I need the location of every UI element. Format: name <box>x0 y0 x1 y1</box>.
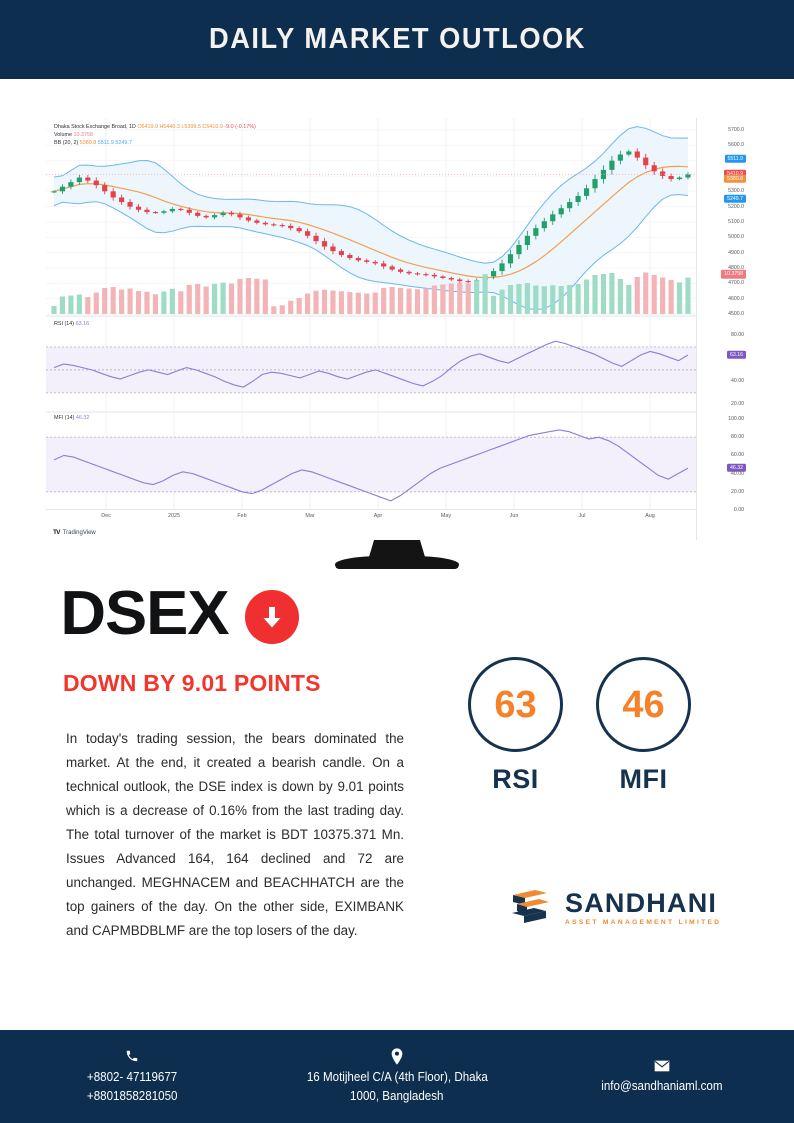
mfi-scale-tick: 100.00 <box>728 416 744 422</box>
market-summary-text: In today's trading session, the bears do… <box>66 727 404 943</box>
indicator-gauges: 63 RSI 46 MFI <box>468 657 691 795</box>
legend-bb-label: BB (20, 2) <box>54 140 78 146</box>
legend-bb-upper: 5511.9 <box>98 140 114 146</box>
chart-canvas <box>46 118 748 534</box>
arrow-down-circle-icon <box>245 590 299 644</box>
legend-low: L5399.5 <box>181 124 201 130</box>
time-axis-tick: Feb <box>237 513 246 519</box>
mfi-scale-tick: 80.00 <box>731 434 744 440</box>
footer-phone: +8802- 47119677 +8801858281050 <box>0 1048 265 1106</box>
rsi-scale-tick: 80.00 <box>731 332 744 338</box>
time-axis-tick: Mar <box>305 513 314 519</box>
price-scale-tick: 4600.0 <box>728 296 744 302</box>
gauge-rsi-value: 63 <box>494 686 536 724</box>
legend-rsi-label: RSI (14) <box>54 321 74 327</box>
dsex-title: DSEX <box>60 583 228 645</box>
price-scale-tick: 5600.0 <box>728 142 744 148</box>
price-scale-tick: 5100.0 <box>728 219 744 225</box>
legend-mfi-label: MFI (14) <box>54 415 74 421</box>
legend-open: O5419.9 <box>137 124 158 130</box>
dsex-heading-row: DSEX <box>62 583 299 645</box>
legend-volume-value: 10.3758 <box>73 132 93 138</box>
gauge-mfi-circle: 46 <box>596 657 691 752</box>
price-scale-badge: 5511.9 <box>725 155 746 163</box>
page-footer: +8802- 47119677 +8801858281050 16 Motijh… <box>0 1030 794 1123</box>
legend-high: H5440.3 <box>160 124 180 130</box>
rsi-scale-badge: 63.16 <box>727 351 746 359</box>
chart-legend-rsi: RSI (14) 63.16 <box>54 320 89 328</box>
chart-legend-price: Dhaka Stock Exchange Broad, 1D O5419.9 H… <box>54 123 256 148</box>
time-axis-tick: Aug <box>645 513 655 519</box>
legend-mfi-value: 46.32 <box>76 415 90 421</box>
price-scale-badge: 5380.8 <box>724 175 746 183</box>
sandhani-logo-text: SANDHANI ASSET MANAGEMENT LIMITED <box>565 889 721 926</box>
sandhani-logo-mark <box>505 882 555 932</box>
gauge-mfi: 46 MFI <box>596 657 691 795</box>
company-logo: SANDHANI ASSET MANAGEMENT LIMITED <box>505 882 721 932</box>
footer-email-1[interactable]: info@sandhaniaml.com <box>601 1077 722 1096</box>
price-scale-tick: 4900.0 <box>728 250 744 256</box>
footer-address: 16 Motijheel C/A (4th Floor), Dhaka 1000… <box>265 1048 530 1106</box>
time-axis-tick: May <box>441 513 451 519</box>
tradingview-label: TradingView <box>63 530 96 536</box>
company-name: SANDHANI <box>565 889 721 917</box>
gauge-rsi: 63 RSI <box>468 657 563 795</box>
time-axis-tick: 2025 <box>168 513 180 519</box>
price-scale-tick: 5300.0 <box>728 188 744 194</box>
price-scale[interactable]: 5700.05600.05500.05400.05300.05200.05100… <box>696 118 748 540</box>
monitor-stand-base <box>335 556 459 569</box>
mfi-scale-tick: 0.00 <box>734 507 744 513</box>
page-title: DAILY MARKET OUTLOOK <box>209 23 586 56</box>
gauge-rsi-circle: 63 <box>468 657 563 752</box>
legend-bb-basis: 5380.8 <box>80 140 97 146</box>
mfi-scale-tick: 60.00 <box>731 452 744 458</box>
time-axis-tick: Jun <box>510 513 519 519</box>
footer-phone-2[interactable]: +8801858281050 <box>87 1087 178 1106</box>
price-scale-tick: 4700.0 <box>728 280 744 286</box>
price-scale-badge: 10.3758 <box>721 270 746 278</box>
time-axis-tick: Dec <box>101 513 111 519</box>
price-scale-tick: 5200.0 <box>728 204 744 210</box>
time-axis-tick: Apr <box>374 513 382 519</box>
dsex-subtitle: DOWN BY 9.01 POINTS <box>63 670 321 697</box>
gauge-mfi-value: 46 <box>622 686 664 724</box>
monitor-stand-neck <box>369 540 425 557</box>
time-axis[interactable]: Dec2025FebMarAprMayJunJulAug <box>46 509 696 523</box>
footer-phone-1[interactable]: +8802- 47119677 <box>87 1068 177 1087</box>
phone-icon <box>125 1048 139 1065</box>
tradingview-watermark: TV TradingView <box>53 529 96 536</box>
price-scale-badge: 5249.7 <box>724 195 746 203</box>
legend-bb-lower: 5249.7 <box>115 140 132 146</box>
gauge-mfi-label: MFI <box>620 764 668 795</box>
price-scale-tick: 4500.0 <box>728 311 744 317</box>
legend-symbol: Dhaka Stock Exchange Broad, 1D <box>54 124 136 130</box>
gauge-rsi-label: RSI <box>492 764 539 795</box>
tradingview-mark: TV <box>53 529 60 536</box>
footer-address-1: 16 Motijheel C/A (4th Floor), Dhaka <box>307 1068 488 1087</box>
legend-rsi-value: 63.16 <box>76 321 90 327</box>
mfi-scale-badge: 46.32 <box>727 464 746 472</box>
legend-close: C5410.9 <box>202 124 222 130</box>
price-scale-tick: 5000.0 <box>728 234 744 240</box>
time-axis-tick: Jul <box>579 513 586 519</box>
legend-change: -9.0 (-0.17%) <box>224 124 255 130</box>
location-pin-icon <box>390 1048 404 1065</box>
monitor-chart-container: Dhaka Stock Exchange Broad, 1D O5419.9 H… <box>46 118 748 540</box>
price-scale-tick: 5700.0 <box>728 127 744 133</box>
rsi-scale-tick: 20.00 <box>731 401 744 407</box>
tradingview-chart[interactable]: Dhaka Stock Exchange Broad, 1D O5419.9 H… <box>46 118 748 540</box>
mfi-scale-tick: 20.00 <box>731 489 744 495</box>
page-header: DAILY MARKET OUTLOOK <box>0 0 794 79</box>
chart-legend-mfi: MFI (14) 46.32 <box>54 414 89 422</box>
company-tagline: ASSET MANAGEMENT LIMITED <box>565 919 721 926</box>
rsi-scale-tick: 40.00 <box>731 378 744 384</box>
envelope-icon <box>654 1057 670 1074</box>
footer-email: info@sandhaniaml.com <box>529 1057 794 1096</box>
footer-address-2: 1000, Bangladesh <box>350 1087 443 1106</box>
legend-volume-label: Volume <box>54 132 72 138</box>
